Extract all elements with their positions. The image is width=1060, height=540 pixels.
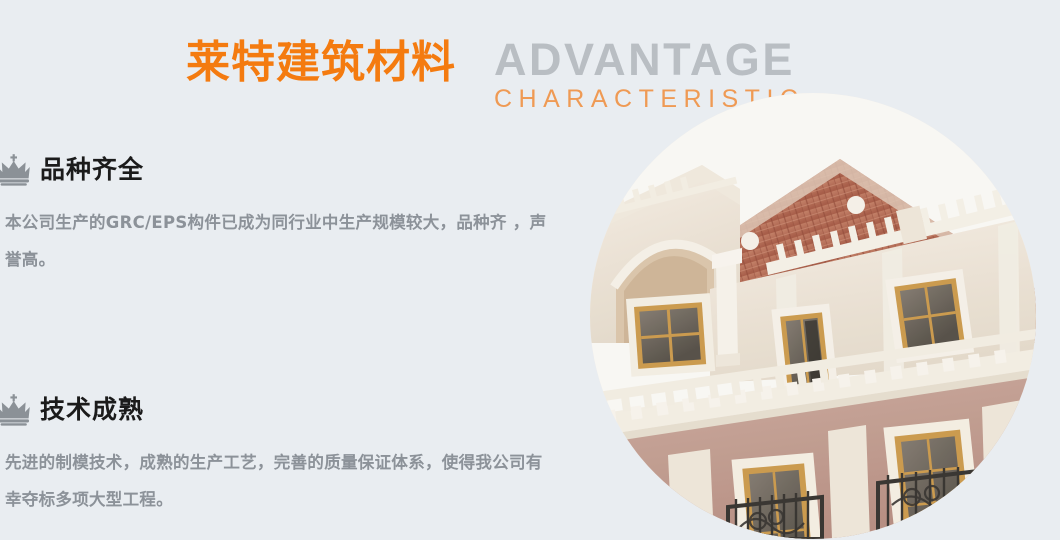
feature-list: 品种齐全 本公司生产的GRC/EPS构件已成为同行业中生产规模较大，品种齐 ，声… <box>0 150 575 518</box>
feature-heading-row: 品种齐全 <box>0 150 575 190</box>
crown-icon <box>0 393 34 427</box>
feature-item-technology: 技术成熟 先进的制模技术，成熟的生产工艺，完善的质量保证体系，使得我公司有幸夺标… <box>0 390 575 518</box>
crown-icon <box>0 153 34 187</box>
advantage-banner: 莱特建筑材料 ADVANTAGE CHARACTERISTIC <box>0 0 1060 540</box>
feature-item-variety: 品种齐全 本公司生产的GRC/EPS构件已成为同行业中生产规模较大，品种齐 ，声… <box>0 150 575 278</box>
page-title-english-main: ADVANTAGE <box>494 34 804 86</box>
european-villa-facade-photo <box>590 93 1036 539</box>
feature-heading-row: 技术成熟 <box>0 390 575 430</box>
feature-description: 先进的制模技术，成熟的生产工艺，完善的质量保证体系，使得我公司有幸夺标多项大型工… <box>0 444 553 518</box>
page-title-chinese: 莱特建筑材料 <box>186 36 456 90</box>
feature-title: 品种齐全 <box>40 154 144 186</box>
feature-title: 技术成熟 <box>40 394 144 426</box>
feature-description: 本公司生产的GRC/EPS构件已成为同行业中生产规模较大，品种齐 ，声誉高。 <box>0 204 553 278</box>
